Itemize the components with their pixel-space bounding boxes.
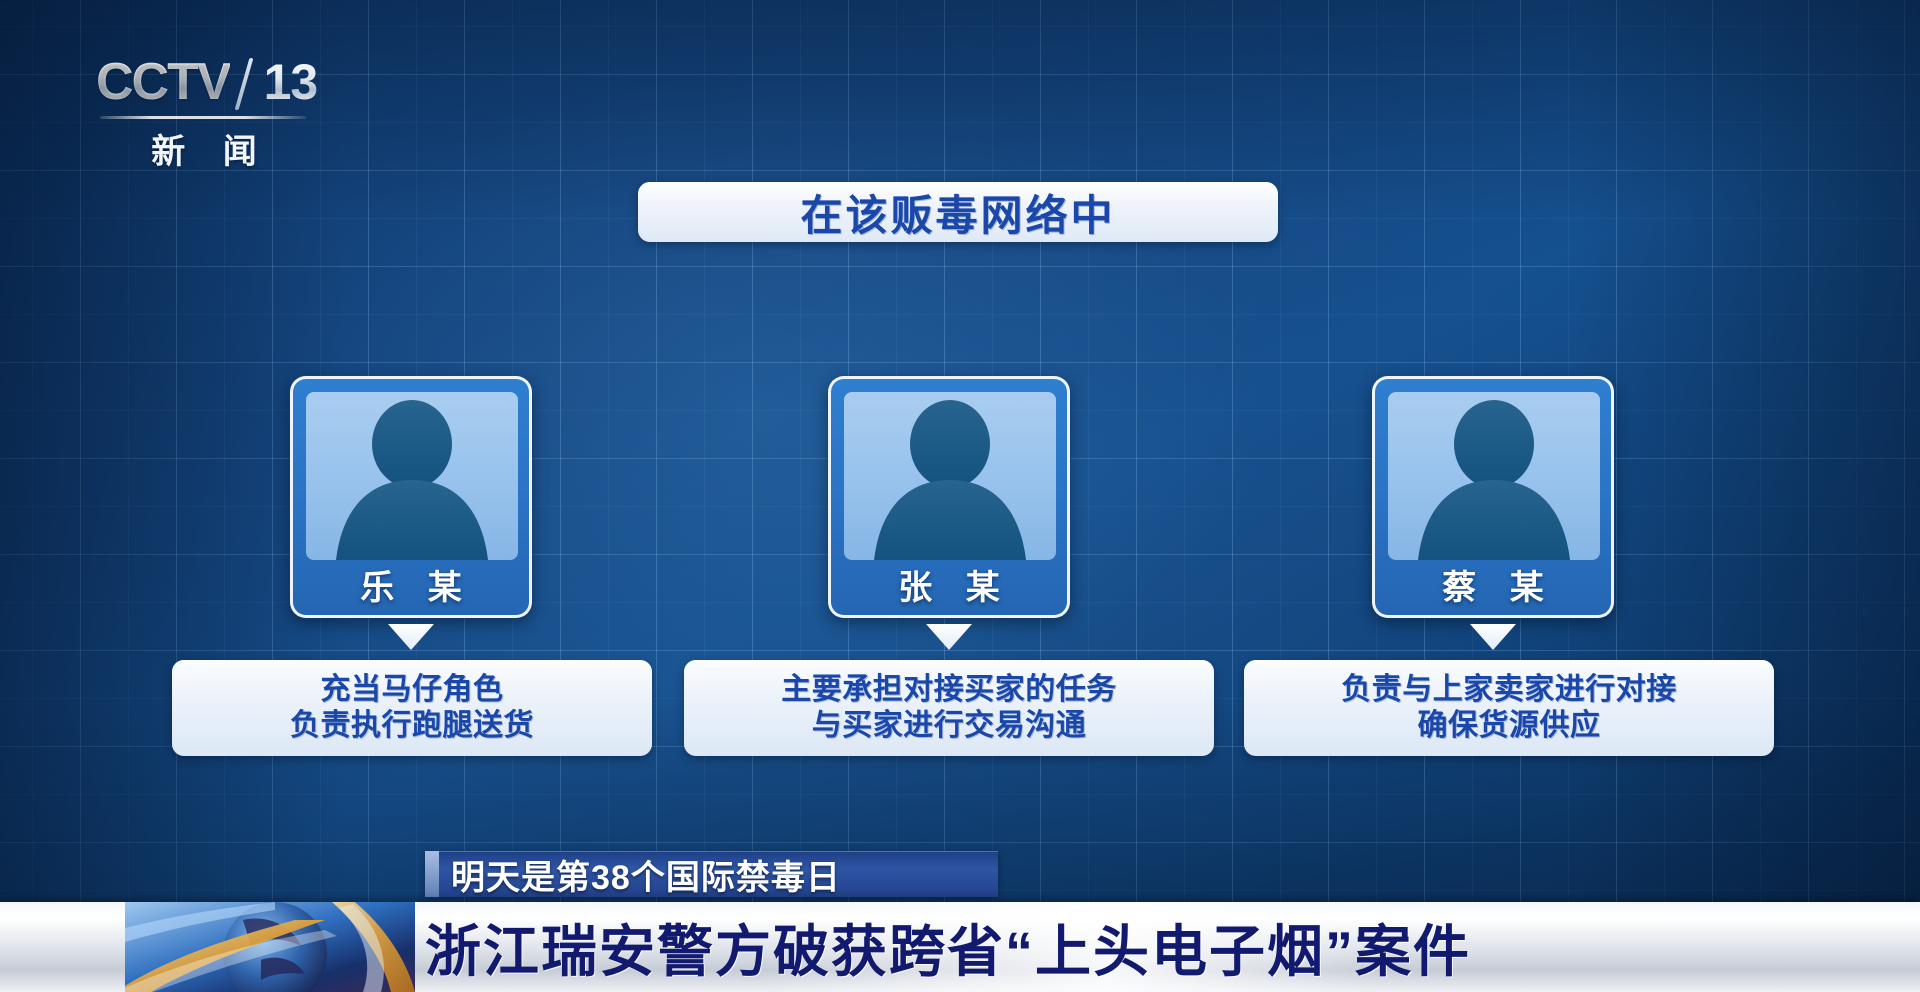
person-role-line-1a: 充当马仔角色 [321, 672, 504, 708]
globe-graphic-icon [125, 902, 415, 992]
kicker-bar-edge [425, 851, 439, 897]
cctv13-news-logo: CCTV 13 新 闻 [96, 56, 326, 168]
person-role-line-3a: 负责与上家卖家进行对接 [1341, 672, 1677, 708]
person-photo-1 [306, 392, 518, 560]
logo-slash-icon [236, 56, 262, 110]
person-card-3: 蔡 某 [1372, 376, 1614, 618]
person-name-1: 乐 某 [293, 560, 529, 609]
person-name-2: 张 某 [831, 560, 1067, 609]
headline-banner-text: 在该贩毒网络中 [800, 182, 1115, 243]
person-silhouette-icon [1388, 392, 1600, 560]
kicker-bar: 明天是第38个国际禁毒日 [425, 851, 998, 897]
person-role-line-2b: 与买家进行交易沟通 [812, 708, 1087, 744]
channel-number: 13 [264, 56, 318, 108]
logo-top-row: CCTV 13 [96, 56, 326, 112]
cctv-wordmark: CCTV [96, 56, 230, 108]
person-photo-3 [1388, 392, 1600, 560]
person-role-line-1b: 负责执行跑腿送货 [290, 708, 534, 744]
kicker-text: 明天是第38个国际禁毒日 [451, 850, 841, 899]
person-silhouette-icon [844, 392, 1056, 560]
person-role-box-3: 负责与上家卖家进行对接 确保货源供应 [1244, 660, 1774, 756]
globe-graphic-svg [125, 902, 415, 992]
person-silhouette-icon [306, 392, 518, 560]
person-role-box-2: 主要承担对接买家的任务 与买家进行交易沟通 [684, 660, 1214, 756]
logo-subtitle: 新 闻 [136, 124, 286, 173]
person-role-line-3b: 确保货源供应 [1418, 708, 1601, 744]
person-name-3: 蔡 某 [1375, 560, 1611, 609]
person-role-box-1: 充当马仔角色 负责执行跑腿送货 [172, 660, 652, 756]
person-card-1: 乐 某 [290, 376, 532, 618]
headline-banner: 在该贩毒网络中 [638, 182, 1278, 242]
broadcast-frame: CCTV 13 新 闻 在该贩毒网络中 乐 某 充当马仔角色 负责 [0, 0, 1920, 992]
logo-underline [100, 116, 306, 119]
person-role-line-2a: 主要承担对接买家的任务 [781, 672, 1117, 708]
headline-text: 浙江瑞安警方破获跨省“上头电子烟”案件 [425, 902, 1471, 992]
person-card-2: 张 某 [828, 376, 1070, 618]
person-photo-2 [844, 392, 1056, 560]
